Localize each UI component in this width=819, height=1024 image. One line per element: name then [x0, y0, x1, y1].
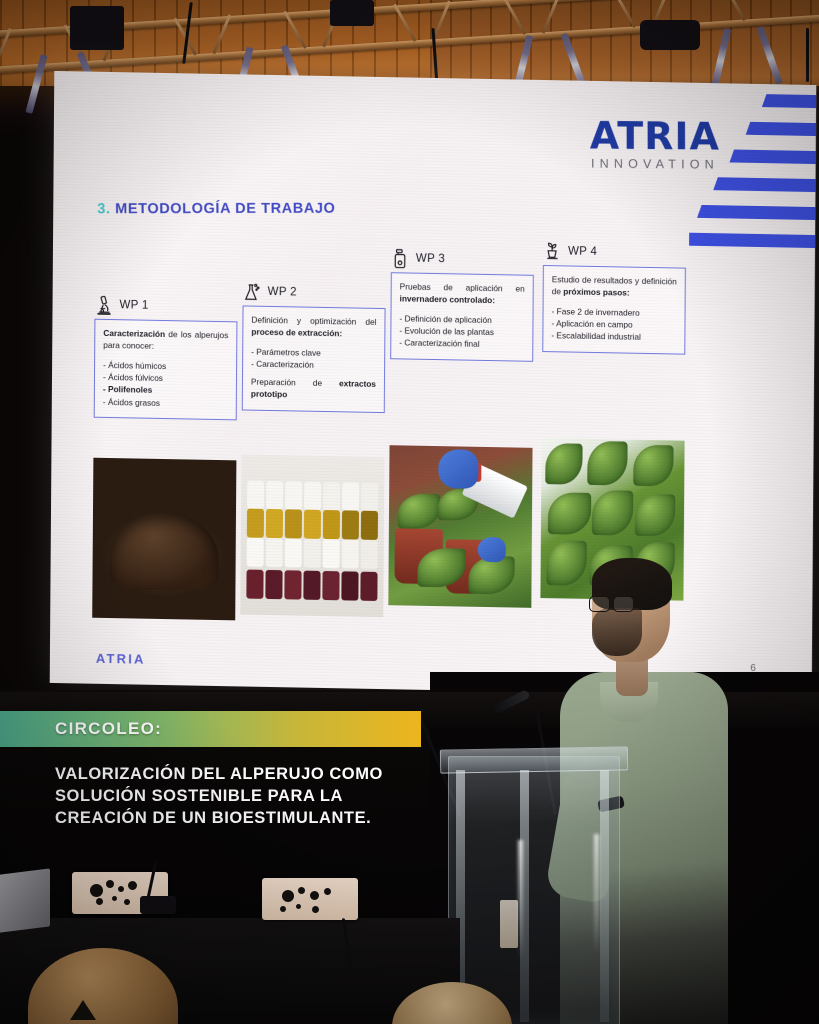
eyeglasses-icon	[589, 596, 633, 611]
flask-icon	[243, 281, 262, 302]
wp2-intro-rest: Definición y optimización del	[251, 315, 376, 327]
atria-logo-tagline: INNOVATION	[590, 157, 720, 172]
slide-footer-logo: ATRIA	[96, 651, 146, 667]
hanging-cable	[806, 28, 809, 82]
name-placard	[262, 878, 358, 920]
vials-rack-photo	[240, 454, 384, 617]
wp3-intro-bold: invernadero controlado:	[400, 293, 496, 305]
caption-body: VALORIZACIÓN DEL ALPERUJO COMO SOLUCIÓN …	[55, 763, 435, 829]
caption-eyebrow-bar: CIRCOLEO:	[0, 711, 421, 747]
wp4-item: - Escalabilidad industrial	[551, 330, 676, 345]
caption-eyebrow-text: CIRCOLEO:	[55, 719, 162, 739]
wp1-item: - Ácidos grasos	[103, 396, 228, 411]
caption-line-1: VALORIZACIÓN DEL ALPERUJO COMO	[55, 763, 435, 785]
spray-bottle-icon	[391, 248, 410, 269]
workpackage-4: WP 4 Estudio de resultados y definición …	[542, 240, 686, 355]
workpackage-4-label: WP 4	[568, 245, 597, 258]
wp1-intro-bold: Caracterización	[103, 328, 165, 339]
wp2-extra-rest: Preparación de	[251, 377, 339, 389]
wp3-item: - Caracterización final	[399, 337, 524, 352]
workpackage-2: WP 2 Definición y optimización del proce…	[242, 280, 386, 413]
lectern-highlight	[594, 834, 599, 954]
microscope-icon	[94, 294, 113, 315]
slide-surface: ATRIA INNOVATION 3. METODOLOGÍA DE TRABA…	[50, 71, 817, 697]
water-bottle	[500, 900, 518, 948]
atria-logo: ATRIA INNOVATION	[590, 118, 720, 172]
slide-title: 3. METODOLOGÍA DE TRABAJO	[97, 201, 335, 218]
lectern-leg	[600, 770, 609, 1022]
workpackage-1-box: Caracterización de los alperujos para co…	[94, 319, 238, 421]
screenshot-root: ATRIA INNOVATION 3. METODOLOGÍA DE TRABA…	[0, 0, 819, 1024]
atria-logo-mark: ATRIA	[590, 118, 720, 155]
caption-line-2: SOLUCIÓN SOSTENIBLE PARA LA	[55, 785, 435, 807]
seedling-icon	[543, 241, 562, 262]
projection-screen: ATRIA INNOVATION 3. METODOLOGÍA DE TRABA…	[52, 78, 814, 693]
rigging-equipment-mid	[330, 0, 374, 26]
workpackage-1: WP 1 Caracterización de los alperujos pa…	[94, 294, 238, 421]
caption-line-3: CREACIÓN DE UN BIOESTIMULANTE.	[55, 807, 435, 829]
workpackage-4-box: Estudio de resultados y definición de pr…	[542, 265, 686, 355]
workpackage-3: WP 3 Pruebas de aplicación en invernader…	[390, 247, 534, 362]
lectern-highlight	[518, 840, 523, 960]
workpackage-3-label: WP 3	[416, 253, 445, 266]
soil-sample-tray-photo	[92, 458, 236, 621]
laptop	[0, 868, 50, 933]
wp3-intro-rest: Pruebas de aplicación en	[400, 281, 525, 293]
wp4-intro-bold: próximos pasos:	[563, 286, 629, 297]
rigging-equipment-right	[640, 20, 700, 50]
rigging-equipment-left	[70, 6, 124, 50]
workpackage-3-box: Pruebas de aplicación en invernadero con…	[390, 272, 534, 362]
slide-title-number: 3.	[97, 201, 111, 217]
wp2-intro-bold: proceso de extracción:	[251, 326, 342, 338]
workpackage-2-box: Definición y optimización del proceso de…	[242, 305, 386, 413]
speaker-beard	[592, 608, 642, 656]
workpackage-1-label: WP 1	[120, 299, 149, 312]
spraying-plants-photo	[388, 445, 532, 608]
slide-title-text: METODOLOGÍA DE TRABAJO	[115, 201, 335, 218]
workpackage-2-label: WP 2	[268, 286, 297, 299]
